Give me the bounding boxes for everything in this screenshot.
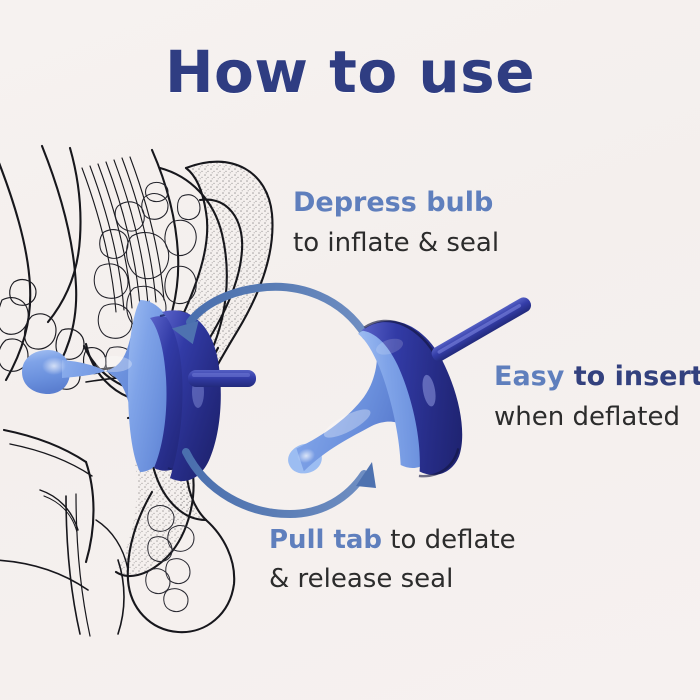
bone-texture [0, 280, 106, 390]
callout-depress-bulb: Depress bulb to inflate & seal [293, 186, 499, 260]
callout-insert-detail: when deflated [494, 401, 700, 434]
page-title: How to use [0, 38, 700, 106]
callout-pull-tab: Pull tab to deflate & release seal [269, 524, 516, 597]
callout-depress-emphasis: Depress bulb [293, 186, 499, 221]
callout-easy-to-insert: Easy to insert when deflated [494, 360, 700, 434]
callout-pull-emphasis: Pull tab [269, 525, 382, 555]
anatomy-outlines [0, 146, 273, 636]
curved-arrow-to-ear [170, 287, 366, 344]
callout-insert-emphasis-light: Easy [494, 361, 574, 392]
lobe-texture [146, 506, 194, 612]
callout-insert-emphasis-dark: to insert [574, 361, 700, 392]
callout-insert-emphasis: Easy to insert [494, 360, 700, 395]
cartilage-stipple [110, 160, 290, 585]
callout-depress-detail: to inflate & seal [293, 227, 499, 260]
callout-pull-detail-inline: to deflate [382, 525, 516, 555]
callout-pull-line-one: Pull tab to deflate [269, 524, 516, 557]
curved-arrow-to-device [186, 452, 376, 514]
tissue-texture [94, 182, 200, 378]
inserted-nozzle [22, 300, 256, 481]
callout-pull-detail: & release seal [269, 563, 516, 596]
illustration-stage: How to use Depress bulb to inflate & sea… [0, 0, 700, 700]
